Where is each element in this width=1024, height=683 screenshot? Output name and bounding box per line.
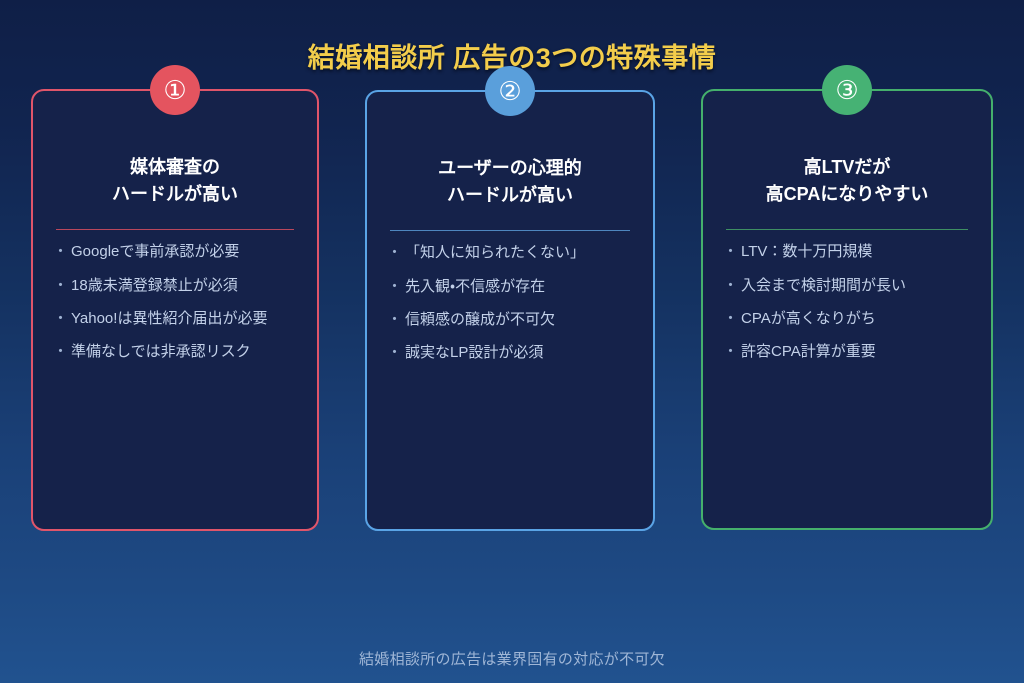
card-2-heading: ユーザーの心理的 ハードルが高い: [383, 155, 637, 208]
list-item: ・ 信頼感の醸成が不可欠: [387, 310, 637, 330]
bullet-text: CPAが高くなりがち: [741, 309, 876, 329]
bullet-text: 誠実なLP設計が必須: [405, 343, 543, 363]
card-1-bullet-list: ・ Googleで事前承認が必要 ・ 18歳未満登録禁止が必須 ・ Yahoo!…: [49, 242, 301, 363]
bullet-dot-icon: ・: [53, 276, 68, 296]
list-item: ・ Googleで事前承認が必要: [53, 242, 301, 262]
list-item: ・ 許容CPA計算が重要: [723, 342, 975, 362]
list-item: ・ 入会まで検討期間が長い: [723, 276, 975, 296]
cards-row: ① 媒体審査の ハードルが高い ・ Googleで事前承認が必要 ・ 18歳未満…: [31, 89, 993, 532]
bullet-dot-icon: ・: [53, 242, 68, 262]
bullet-text: 入会まで検討期間が長い: [741, 276, 906, 296]
list-item: ・ Yahoo!は異性紹介届出が必要: [53, 309, 301, 329]
bullet-text: Googleで事前承認が必要: [71, 242, 239, 262]
list-item: ・ CPAが高くなりがち: [723, 309, 975, 329]
bullet-text: 準備なしでは非承認リスク: [71, 342, 251, 362]
card-3-divider: [726, 229, 968, 230]
card-2-number-badge: ②: [485, 66, 535, 116]
bullet-text: Yahoo!は異性紹介届出が必要: [71, 309, 267, 329]
card-1: ① 媒体審査の ハードルが高い ・ Googleで事前承認が必要 ・ 18歳未満…: [31, 89, 319, 531]
list-item: ・ 先入観・不信感が存在: [387, 277, 637, 297]
slide-root: 結婚相談所 広告の3つの特殊事情 ① 媒体審査の ハードルが高い ・ Googl…: [0, 0, 1024, 683]
bullet-text: 信頼感の醸成が不可欠: [405, 310, 555, 330]
card-3-heading: 高LTVだが 高CPAになりやすい: [719, 154, 975, 207]
bullet-text: 「知人に知られたくない」: [405, 243, 585, 263]
footer-note: 結婚相談所の広告は業界固有の対応が不可欠: [0, 648, 1024, 669]
bullet-dot-icon: ・: [53, 342, 68, 362]
bullet-dot-icon: ・: [387, 277, 402, 297]
list-item: ・ 準備なしでは非承認リスク: [53, 342, 301, 362]
card-3-number-badge: ③: [822, 65, 872, 115]
bullet-text: 先入観・不信感が存在: [405, 277, 545, 297]
card-3-bullet-list: ・ LTV：数十万円規模 ・ 入会まで検討期間が長い ・ CPAが高くなりがち …: [719, 242, 975, 363]
list-item: ・ 18歳未満登録禁止が必須: [53, 276, 301, 296]
card-2: ② ユーザーの心理的 ハードルが高い ・ 「知人に知られたくない」 ・ 先入観・…: [365, 90, 655, 531]
bullet-dot-icon: ・: [723, 242, 738, 262]
card-2-bullet-list: ・ 「知人に知られたくない」 ・ 先入観・不信感が存在 ・ 信頼感の醸成が不可欠…: [383, 243, 637, 364]
card-1-divider: [56, 229, 294, 230]
bullet-dot-icon: ・: [387, 243, 402, 263]
bullet-dot-icon: ・: [723, 309, 738, 329]
card-2-divider: [390, 230, 630, 231]
bullet-dot-icon: ・: [387, 310, 402, 330]
bullet-dot-icon: ・: [723, 276, 738, 296]
card-1-number-badge: ①: [150, 65, 200, 115]
list-item: ・ 誠実なLP設計が必須: [387, 343, 637, 363]
list-item: ・ 「知人に知られたくない」: [387, 243, 637, 263]
list-item: ・ LTV：数十万円規模: [723, 242, 975, 262]
bullet-text: 許容CPA計算が重要: [741, 342, 876, 362]
bullet-text: LTV：数十万円規模: [741, 242, 872, 262]
bullet-text: 18歳未満登録禁止が必須: [71, 276, 238, 296]
bullet-dot-icon: ・: [723, 342, 738, 362]
card-1-heading: 媒体審査の ハードルが高い: [49, 154, 301, 207]
card-3: ③ 高LTVだが 高CPAになりやすい ・ LTV：数十万円規模 ・ 入会まで検…: [701, 89, 993, 530]
bullet-dot-icon: ・: [53, 309, 68, 329]
bullet-dot-icon: ・: [387, 343, 402, 363]
